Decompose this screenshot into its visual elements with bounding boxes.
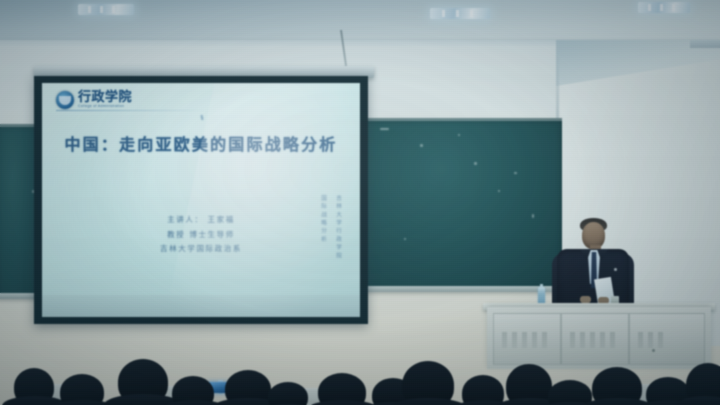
projector-screen-frame: 行政学院 College of Administration 中国：走向亚欧美的… <box>34 76 368 324</box>
slide-logo-en: College of Administration <box>78 105 132 109</box>
chalk-mark <box>498 190 500 192</box>
speaker-hand-left <box>580 296 591 303</box>
ceiling-light-3-icon <box>638 2 690 13</box>
chalk-mark <box>420 144 423 147</box>
college-emblem-icon <box>56 91 74 109</box>
slide-title: 中国：走向亚欧美的国际战略分析 <box>42 131 360 155</box>
ceiling-light-1-icon <box>78 4 134 15</box>
ceiling-light-2-icon <box>430 8 490 19</box>
chalk-tray-right <box>362 286 564 292</box>
slide-logo-rule <box>56 110 206 111</box>
audience-area <box>0 328 720 405</box>
chalk-mark <box>532 214 534 218</box>
chalk-mark <box>514 172 517 174</box>
slide-vertical-text-block: 国际战略分析 吉林大学行政学院 <box>319 195 342 261</box>
lecture-hall-photo: 行政学院 College of Administration 中国：走向亚欧美的… <box>0 0 720 405</box>
slide-logo: 行政学院 College of Administration <box>56 91 132 109</box>
slide-subtitle-block: 主讲人： 王家福 教授 博士生导师 吉林大学国际政治系 <box>42 213 360 257</box>
chalk-mark <box>458 134 460 136</box>
speaker-lapel-pin <box>614 268 617 271</box>
chalk-mark <box>474 162 477 165</box>
slide-logo-cn: 行政学院 <box>78 91 132 104</box>
slide-subtitle-line: 教授 博士生导师 <box>42 228 360 243</box>
ceiling-vent <box>690 40 720 48</box>
slide-vertical-line: 国际战略分析 <box>319 195 327 261</box>
chalkboard-right <box>362 118 562 288</box>
slide-subtitle-line: 吉林大学国际政治系 <box>42 242 360 257</box>
chalk-mark <box>380 128 389 130</box>
audience-head <box>268 382 308 405</box>
projected-slide: 行政学院 College of Administration 中国：走向亚欧美的… <box>42 83 360 317</box>
chalkboard-right-top-trim <box>362 118 562 121</box>
slide-subtitle-line: 主讲人： 王家福 <box>42 213 360 228</box>
slide-cursor-mark <box>201 115 204 120</box>
slide-vertical-line: 吉林大学行政学院 <box>334 195 342 261</box>
slide-bottom-band <box>42 295 360 317</box>
chalk-mark <box>404 238 406 240</box>
